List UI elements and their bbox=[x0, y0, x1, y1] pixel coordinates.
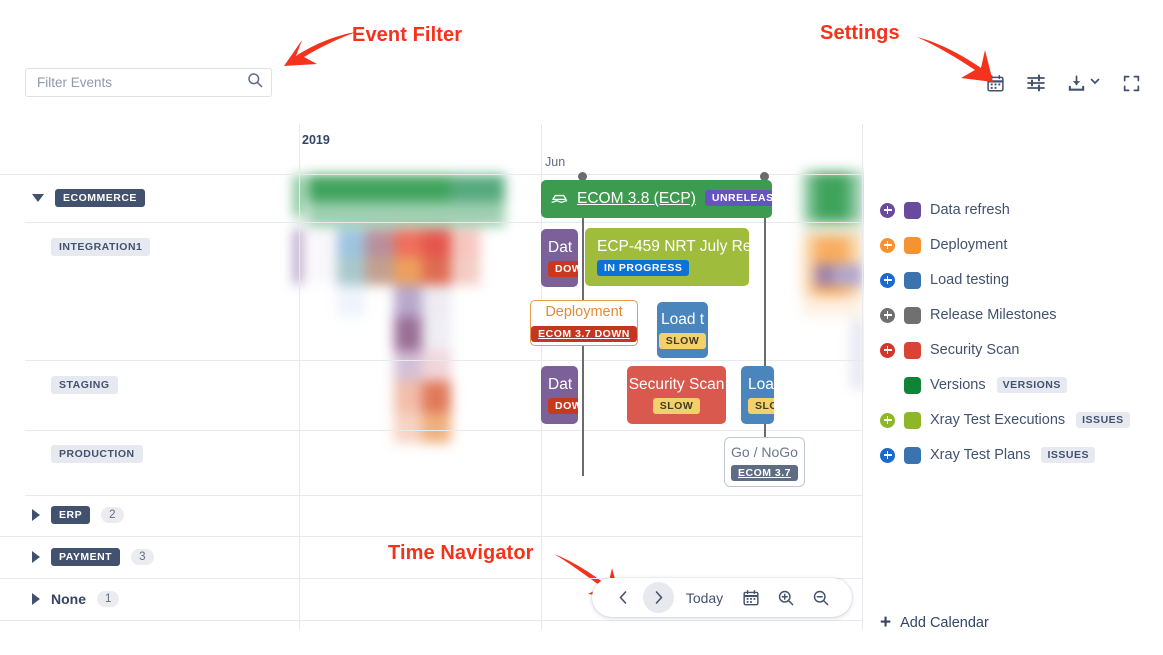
color-swatch bbox=[904, 342, 921, 359]
sidebar-row-payment[interactable]: PAYMENT 3 bbox=[32, 546, 154, 568]
add-calendar-plus-icon[interactable] bbox=[880, 448, 895, 463]
legend-label: Security Scan bbox=[930, 342, 1019, 358]
color-swatch bbox=[904, 272, 921, 289]
settings-arrow-icon bbox=[915, 34, 995, 84]
event-title: Load t bbox=[661, 311, 704, 329]
grid-hline-3 bbox=[25, 430, 863, 431]
event-ecp-459[interactable]: ECP-459 NRT July Re IN PROGRESS bbox=[585, 228, 749, 286]
legend-tag-versions: VERSIONS bbox=[997, 377, 1067, 393]
event-badge-ecom37-down: ECOM 3.7 DOWN bbox=[531, 326, 637, 342]
sidebar-row-staging[interactable]: STAGING bbox=[51, 374, 118, 396]
twisty-right-icon[interactable] bbox=[32, 593, 40, 605]
time-navigator: Today bbox=[592, 578, 852, 617]
toolbar-icons bbox=[986, 68, 1141, 98]
add-calendar-plus-icon[interactable] bbox=[880, 343, 895, 358]
add-calendar-plus-icon[interactable] bbox=[880, 308, 895, 323]
legend-versions[interactable]: Versions VERSIONS bbox=[880, 374, 1067, 396]
zoom-out-icon[interactable] bbox=[805, 582, 836, 613]
year-label: 2019 bbox=[302, 133, 330, 147]
legend-xray-test-plans[interactable]: Xray Test Plans ISSUES bbox=[880, 444, 1095, 466]
sidebar-row-ecommerce[interactable]: ECOMMERCE bbox=[32, 187, 145, 209]
sidebar-row-erp[interactable]: ERP 2 bbox=[32, 504, 124, 526]
calendar-icon[interactable] bbox=[735, 582, 766, 613]
legend-label: Deployment bbox=[930, 237, 1007, 253]
legend-label: Xray Test Plans bbox=[930, 447, 1030, 463]
row-count-none: 1 bbox=[97, 591, 119, 607]
add-calendar-label: Add Calendar bbox=[900, 615, 989, 631]
next-period-button[interactable] bbox=[643, 582, 674, 613]
grid-hline-1 bbox=[25, 222, 863, 223]
settings-sliders-icon[interactable] bbox=[1026, 73, 1046, 93]
twisty-right-icon[interactable] bbox=[32, 551, 40, 563]
event-filter-annotation: Event Filter bbox=[352, 24, 462, 47]
event-ecom-38[interactable]: ECOM 3.8 (ECP) UNRELEASED bbox=[541, 180, 772, 218]
event-title: Deployment bbox=[545, 304, 622, 321]
legend-release-milestones[interactable]: Release Milestones bbox=[880, 304, 1057, 326]
legend-deployment[interactable]: Deployment bbox=[880, 234, 1007, 256]
chevron-down-icon[interactable] bbox=[1089, 74, 1101, 92]
event-load-testing-integration[interactable]: Load t SLOW bbox=[657, 302, 708, 358]
event-filter-arrow-icon bbox=[282, 30, 357, 72]
legend-label: Data refresh bbox=[930, 202, 1010, 218]
color-swatch bbox=[904, 202, 921, 219]
legend-security-scan[interactable]: Security Scan bbox=[880, 339, 1019, 361]
blurred-events-right bbox=[795, 164, 865, 414]
grid-vline-year bbox=[299, 124, 300, 630]
event-title: Security Scan bbox=[629, 376, 725, 394]
event-title: ECP-459 NRT July Re bbox=[597, 238, 737, 256]
plus-placeholder bbox=[880, 378, 895, 393]
legend-label: Xray Test Executions bbox=[930, 412, 1065, 428]
download-icon[interactable] bbox=[1067, 74, 1101, 93]
prev-period-button[interactable] bbox=[608, 582, 639, 613]
legend-tag-issues: ISSUES bbox=[1041, 447, 1095, 463]
event-title: ECOM 3.8 (ECP) bbox=[577, 190, 696, 208]
event-title: Dat bbox=[548, 376, 571, 394]
event-filter-box[interactable] bbox=[25, 68, 272, 97]
twisty-down-icon[interactable] bbox=[32, 194, 44, 202]
grid-hline-7 bbox=[0, 620, 863, 621]
sidebar-row-production[interactable]: PRODUCTION bbox=[51, 443, 143, 465]
legend-tag-issues: ISSUES bbox=[1076, 412, 1130, 428]
legend-xray-test-executions[interactable]: Xray Test Executions ISSUES bbox=[880, 409, 1130, 431]
row-label-ecommerce: ECOMMERCE bbox=[55, 189, 145, 207]
grid-hline-5 bbox=[0, 536, 863, 537]
event-badge-in-progress: IN PROGRESS bbox=[597, 260, 689, 276]
grid-hline-2 bbox=[25, 360, 863, 361]
event-badge-down: DOW bbox=[548, 261, 578, 277]
row-label-payment: PAYMENT bbox=[51, 548, 120, 566]
color-swatch bbox=[904, 307, 921, 324]
color-swatch bbox=[904, 237, 921, 254]
row-count-erp: 2 bbox=[101, 507, 123, 523]
row-label-production: PRODUCTION bbox=[51, 445, 143, 463]
month-label: Jun bbox=[545, 155, 565, 169]
add-calendar-plus-icon[interactable] bbox=[880, 238, 895, 253]
row-label-erp: ERP bbox=[51, 506, 90, 524]
color-swatch bbox=[904, 377, 921, 394]
event-security-scan[interactable]: Security Scan SLOW bbox=[627, 366, 726, 424]
row-label-integration1: INTEGRATION1 bbox=[51, 238, 150, 256]
event-title: Loa bbox=[748, 376, 767, 394]
legend-data-refresh[interactable]: Data refresh bbox=[880, 199, 1010, 221]
legend-label: Versions bbox=[930, 377, 986, 393]
add-calendar-button[interactable]: + Add Calendar bbox=[880, 613, 989, 632]
plus-icon: + bbox=[880, 613, 891, 632]
legend-label: Release Milestones bbox=[930, 307, 1057, 323]
today-button[interactable]: Today bbox=[678, 590, 731, 606]
zoom-in-icon[interactable] bbox=[770, 582, 801, 613]
event-badge-slow: SLO bbox=[748, 398, 774, 414]
sidebar-row-none[interactable]: None 1 bbox=[32, 588, 119, 610]
search-input[interactable] bbox=[37, 75, 247, 90]
event-badge-unreleased: UNRELEASED bbox=[705, 190, 772, 206]
color-swatch bbox=[904, 412, 921, 429]
event-data-refresh-integration[interactable]: Dat DOW bbox=[541, 229, 578, 287]
color-swatch bbox=[904, 447, 921, 464]
event-badge-down: DOW bbox=[548, 398, 578, 414]
grid-hline-header bbox=[0, 174, 863, 175]
event-badge-slow: SLOW bbox=[659, 333, 707, 349]
event-badge-slow: SLOW bbox=[653, 398, 701, 414]
milestone-go-nogo[interactable]: Go / NoGo ECOM 3.7 bbox=[724, 437, 805, 487]
add-calendar-plus-icon[interactable] bbox=[880, 413, 895, 428]
row-count-payment: 3 bbox=[131, 549, 153, 565]
add-calendar-plus-icon[interactable] bbox=[880, 203, 895, 218]
event-data-refresh-staging[interactable]: Dat DOW bbox=[541, 366, 578, 424]
timeline-grid: 2019 Jun ECOMMERCE INTEGRATION1 STAGING … bbox=[0, 124, 863, 630]
grid-hline-4 bbox=[25, 495, 863, 496]
settings-annotation: Settings bbox=[820, 22, 900, 45]
grid-vline-panel bbox=[862, 124, 863, 630]
event-load-testing-staging[interactable]: Loa SLO bbox=[741, 366, 774, 424]
timeline-header: 2019 Jun bbox=[0, 124, 863, 174]
add-calendar-plus-icon[interactable] bbox=[880, 273, 895, 288]
row-label-none: None bbox=[51, 591, 86, 607]
event-deployment-callout[interactable]: Deployment ECOM 3.7 DOWN bbox=[530, 300, 638, 346]
milestone-title: Go / NoGo bbox=[731, 444, 798, 460]
event-title: Dat bbox=[548, 239, 571, 257]
milestone-badge: ECOM 3.7 bbox=[731, 465, 798, 481]
fullscreen-icon[interactable] bbox=[1122, 74, 1141, 93]
version-ship-icon bbox=[551, 190, 568, 209]
calendar-legend-panel: Data refresh Deployment Load testing Rel… bbox=[864, 124, 1163, 630]
twisty-right-icon[interactable] bbox=[32, 509, 40, 521]
row-label-staging: STAGING bbox=[51, 376, 118, 394]
sidebar-row-integration1[interactable]: INTEGRATION1 bbox=[51, 236, 150, 258]
legend-label: Load testing bbox=[930, 272, 1009, 288]
legend-load-testing[interactable]: Load testing bbox=[880, 269, 1009, 291]
search-icon bbox=[247, 72, 263, 93]
